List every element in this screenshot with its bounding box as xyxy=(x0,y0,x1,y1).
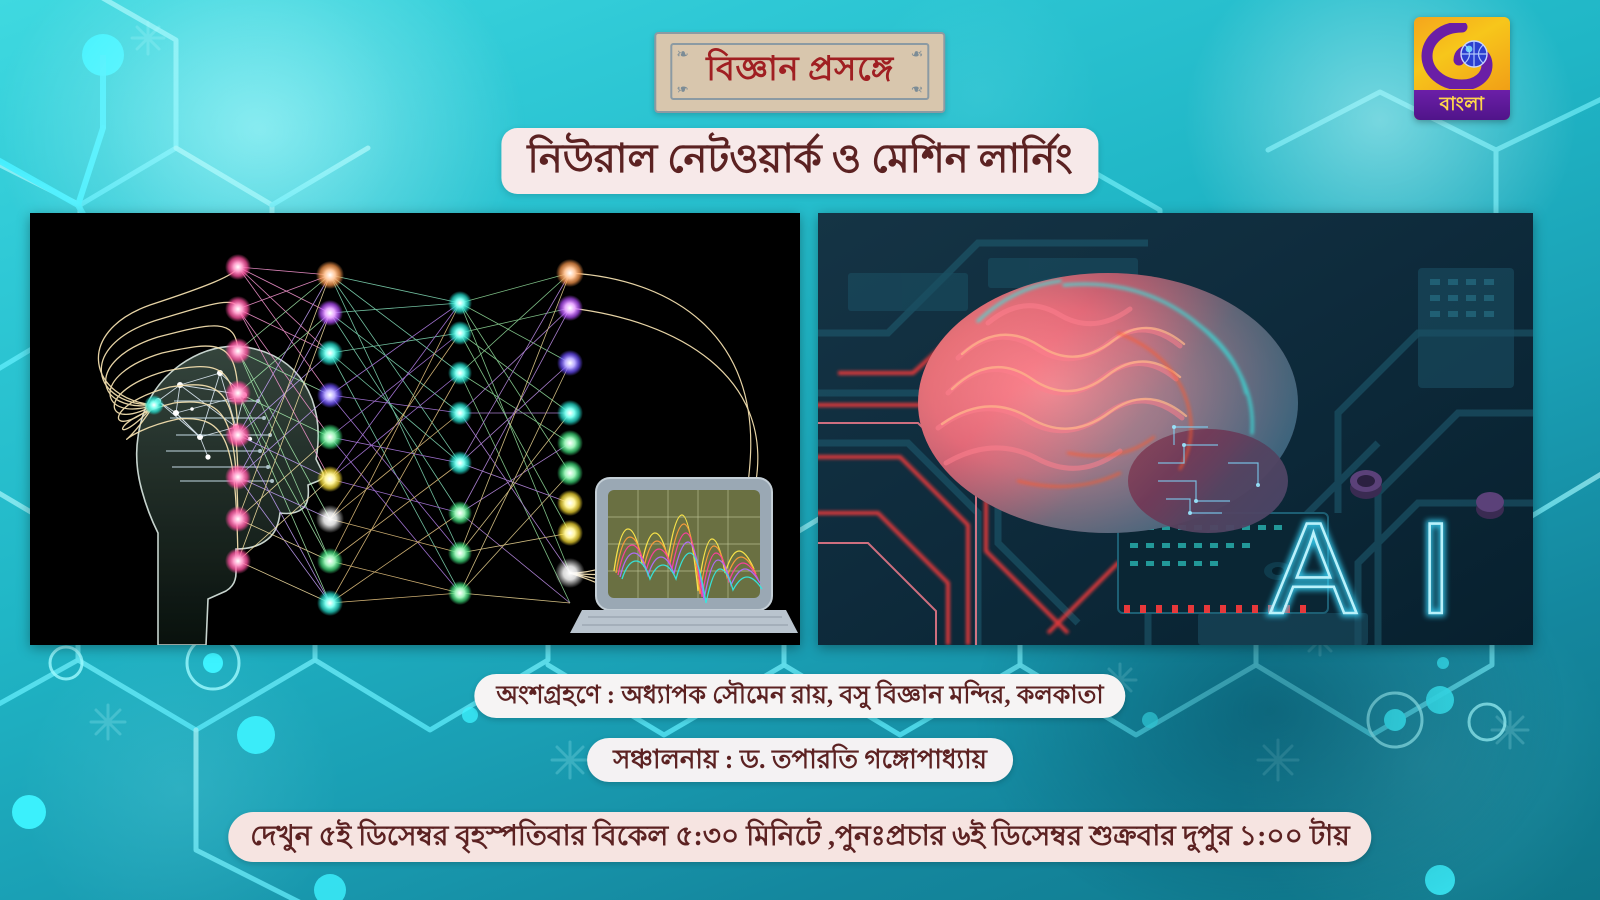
brain-3d-render xyxy=(918,273,1298,533)
episode-title-text: নিউরাল নেটওয়ার্ক ও মেশিন লার্নিং xyxy=(527,134,1072,184)
anchor-pill: সঞ্চালনায় : ড. তপারতি গঙ্গোপাধ্যায় xyxy=(587,738,1013,782)
dd-eye-globe-icon xyxy=(1421,23,1503,89)
ai-neon-text: A I A I xyxy=(1270,495,1470,641)
channel-name-text: বাংলা xyxy=(1440,95,1485,115)
corner-flourish-icon: ❧ xyxy=(908,47,924,63)
ai-label: A I xyxy=(1270,495,1470,641)
participant-pill: অংশগ্রহণে : অধ্যাপক সৌমেন রায়, বসু বিজ্… xyxy=(474,674,1125,718)
neural-network-svg xyxy=(30,213,800,645)
corner-flourish-icon: ❧ xyxy=(908,80,924,96)
neural-network-illustration xyxy=(30,213,800,645)
corner-flourish-icon: ❧ xyxy=(676,47,692,63)
channel-logo-band: বাংলা xyxy=(1414,90,1510,120)
participant-text: অংশগ্রহণে : অধ্যাপক সৌমেন রায়, বসু বিজ্… xyxy=(496,679,1103,713)
ai-brain-circuit-photo: A I A I xyxy=(818,213,1533,645)
schedule-text: দেখুন ৫ই ডিসেম্বর বৃহস্পতিবার বিকেল ৫:৩০… xyxy=(250,818,1349,856)
hidden-layer-1-nodes xyxy=(316,261,344,616)
series-title-text: বিজ্ঞান প্রসঙ্গে xyxy=(706,48,893,92)
head-output-node xyxy=(144,395,164,415)
series-title-plate-inner: ❧ ❧ ❧ ❧ বিজ্ঞান প্রসঙ্গে xyxy=(670,43,929,100)
brain-circuit-svg: A I A I xyxy=(818,213,1533,645)
episode-title-pill: নিউরাল নেটওয়ার্ক ও মেশিন লার্নিং xyxy=(501,128,1098,194)
corner-flourish-icon: ❧ xyxy=(676,80,692,96)
promo-poster: ❧ ❧ ❧ ❧ বিজ্ঞান প্রসঙ্গে নিউরাল নেটওয়ার… xyxy=(0,0,1600,900)
series-title-plate: ❧ ❧ ❧ ❧ বিজ্ঞান প্রসঙ্গে xyxy=(654,32,945,113)
laptop-waveform-icon xyxy=(570,478,798,633)
channel-logo: বাংলা xyxy=(1414,17,1510,120)
schedule-pill: দেখুন ৫ই ডিসেম্বর বৃহস্পতিবার বিকেল ৫:৩০… xyxy=(228,812,1371,862)
anchor-text: সঞ্চালনায় : ড. তপারতি গঙ্গোপাধ্যায় xyxy=(613,743,987,777)
